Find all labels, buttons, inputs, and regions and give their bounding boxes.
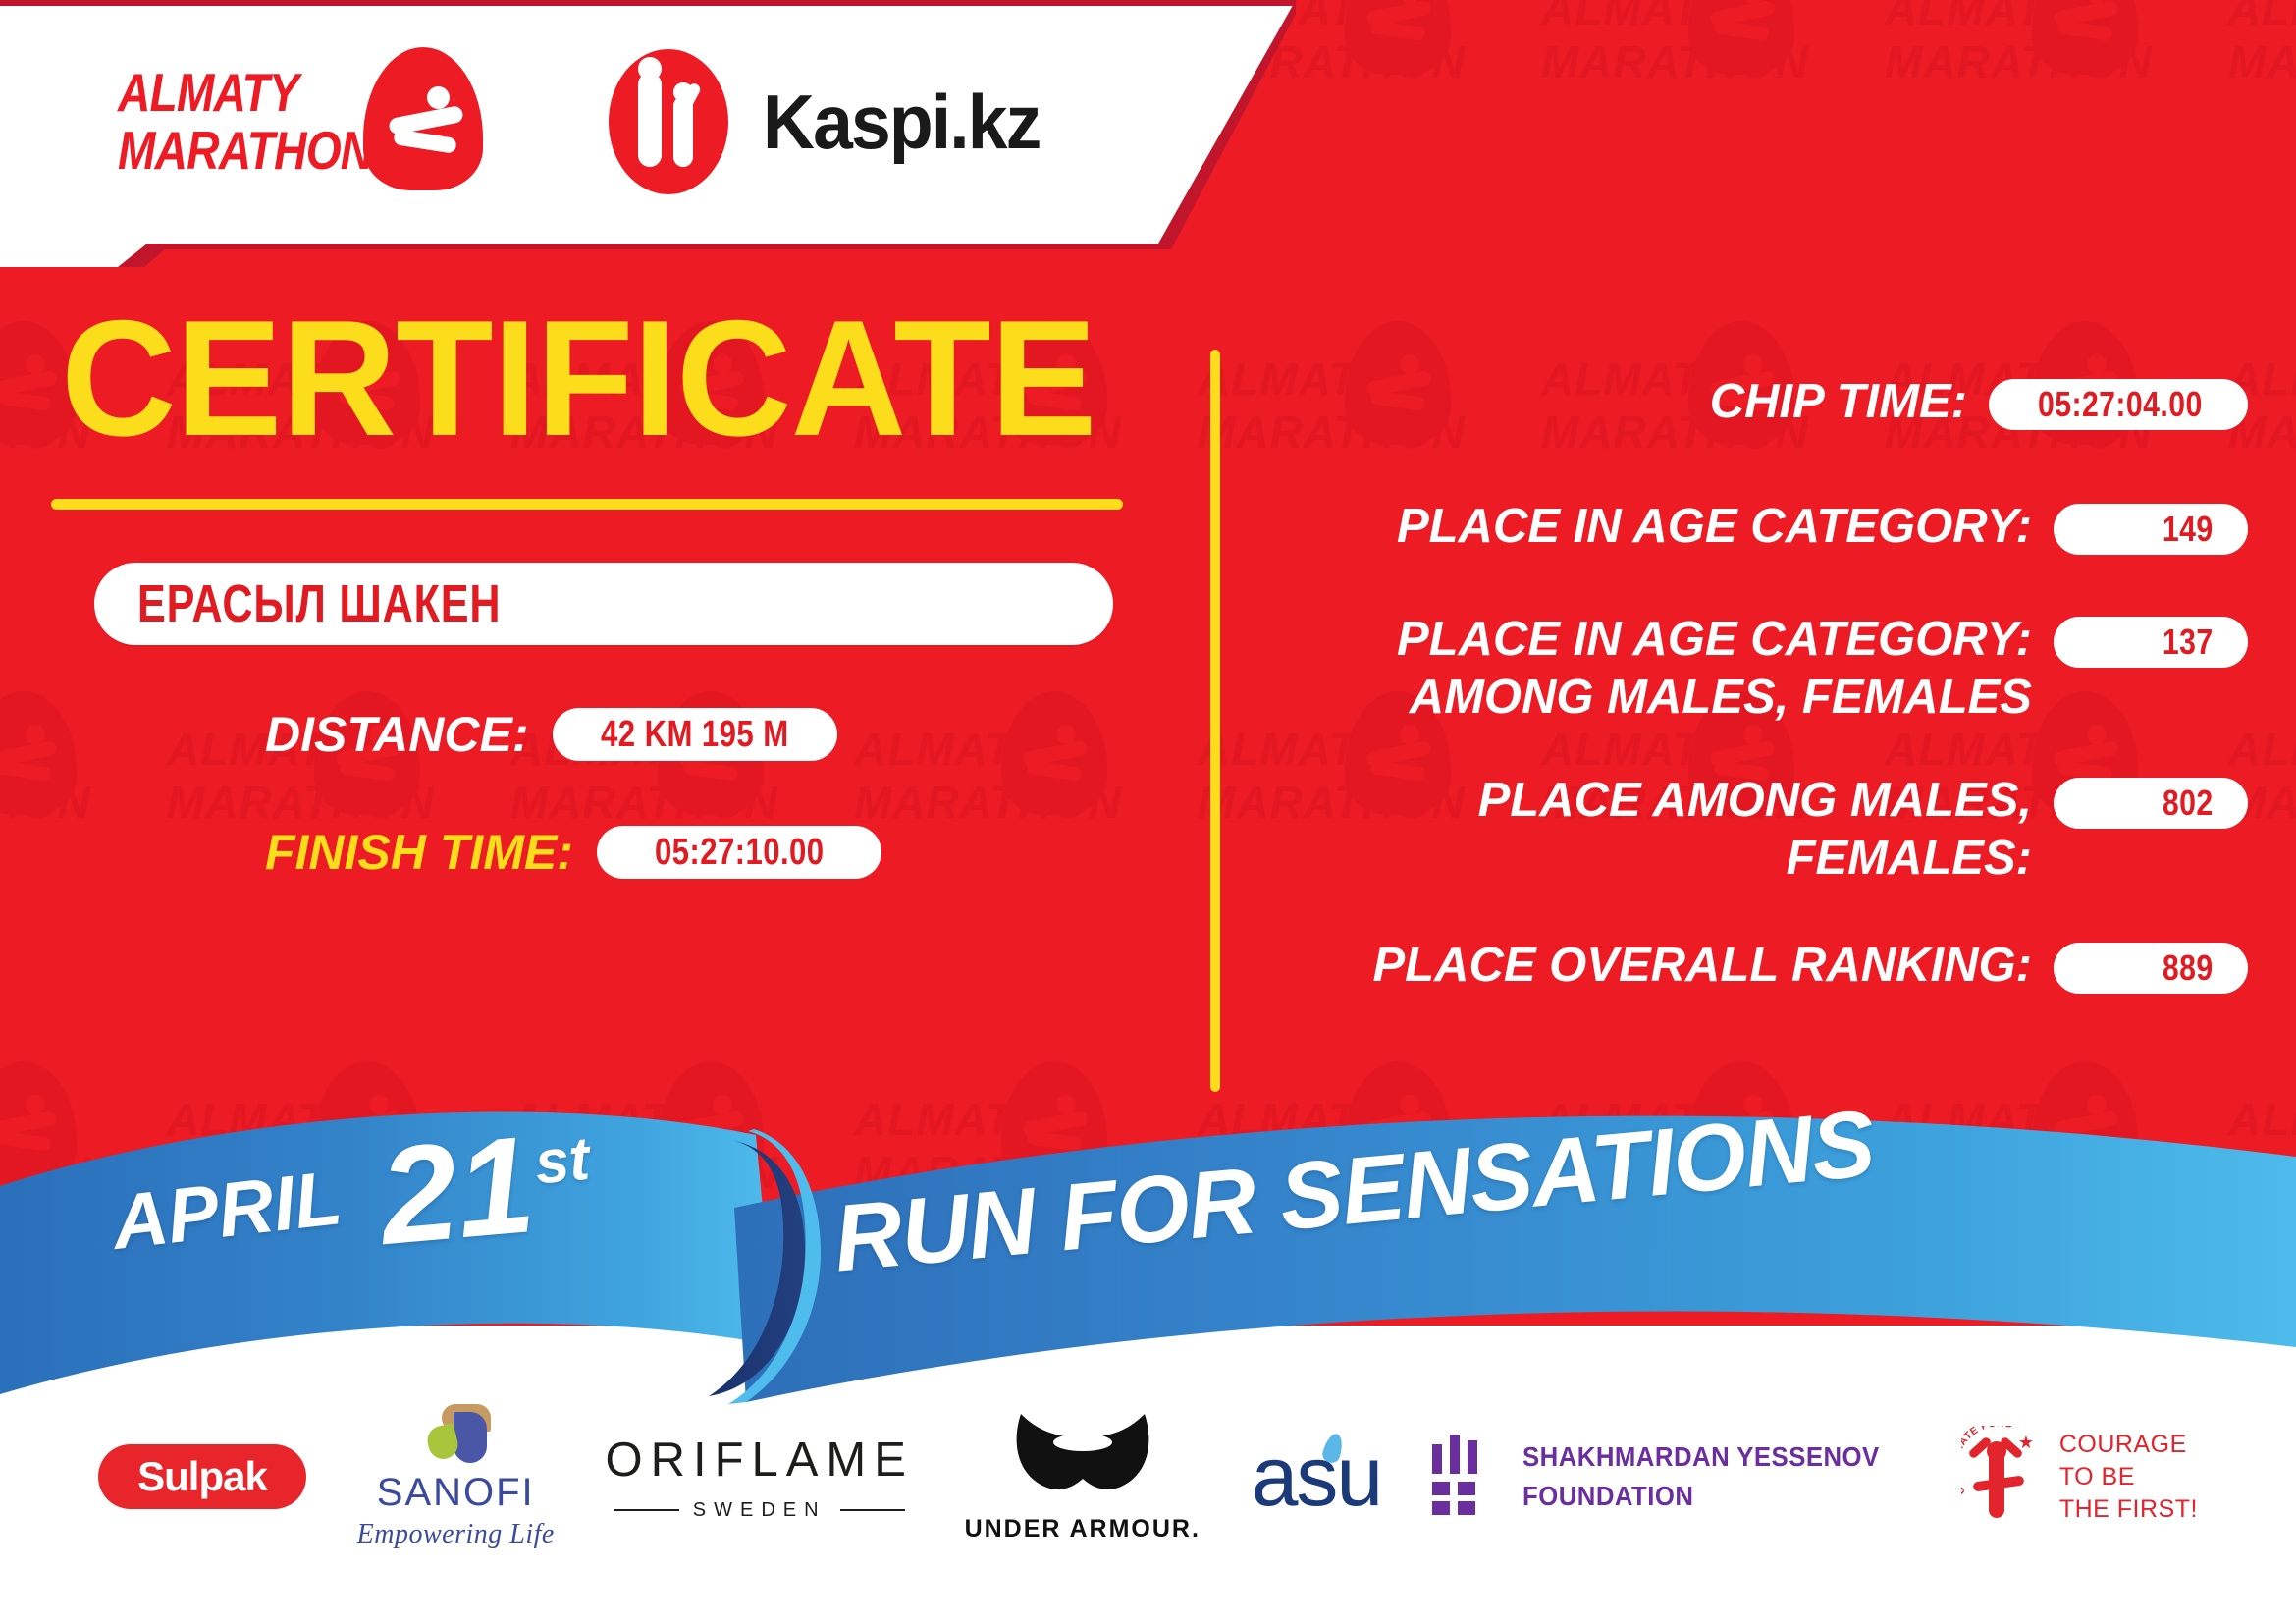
under-armour-label: UNDER ARMOUR.: [965, 1515, 1201, 1543]
kaspi-logo-text: Kaspi.kz: [763, 78, 1040, 167]
result-row-chip-time: CHIP TIME: 05:27:04.00: [1266, 373, 2248, 431]
result-row-place-overall: PLACE OVERALL RANKING: 889: [1266, 937, 2248, 995]
oriflame-label: ORIFLAME: [605, 1433, 913, 1488]
almaty-marathon-logo-line2: MARATHON: [118, 122, 372, 180]
sponsor-logo-under-armour: UNDER ARMOUR.: [965, 1410, 1201, 1543]
watermark-text: ALMATYMARATHON: [1541, 0, 1809, 88]
finish-time-label: FINISH TIME:: [265, 824, 573, 881]
place-age-category-value-pill: 149: [2054, 504, 2248, 555]
place-age-category-value: 149: [2163, 509, 2214, 550]
header-logos: ALMATY MARATHON Kaspi.kz: [0, 0, 1296, 244]
almaty-marathon-logo-line1: ALMATY: [118, 64, 372, 122]
sulpak-pill: Sulpak: [98, 1444, 306, 1509]
watermark-teardrop-icon: [2032, 0, 2138, 75]
detail-row-distance: DISTANCE: 42 KM 195 M: [265, 706, 1198, 763]
place-among-gender-value: 802: [2163, 783, 2214, 824]
place-age-category-gender-value: 137: [2163, 622, 2214, 663]
sponsor-logo-courage-fund: CORPORATE FUND ★ COURAGE TO BE THE FIRST…: [1961, 1426, 2198, 1528]
watermark-runner-icon: [1710, 0, 1777, 45]
almaty-marathon-logo-text: ALMATY MARATHON: [118, 64, 372, 180]
detail-row-finish-time: FINISH TIME: 05:27:10.00: [265, 824, 1198, 881]
place-overall-value-pill: 889: [2054, 943, 2248, 994]
courage-figure-icon: CORPORATE FUND ★: [1961, 1426, 2048, 1528]
place-age-category-gender-label-line2: AMONG MALES, FEMALES: [1266, 669, 2032, 727]
sulpak-label: Sulpak: [137, 1453, 267, 1500]
courage-label-line2: TO BE: [2059, 1461, 2198, 1493]
watermark-tile: ALMATYMARATHON: [1885, 0, 2179, 147]
participant-name-field: ЕРАСЫЛ ШАКЕН: [94, 563, 1113, 645]
watermark-teardrop-icon: [1688, 0, 1794, 75]
place-overall-label: PLACE OVERALL RANKING:: [1266, 937, 2054, 995]
watermark-teardrop-icon: [1345, 0, 1451, 75]
yessenov-label-line2: FOUNDATION: [1522, 1477, 1880, 1516]
chip-time-value: 05:27:04.00: [2038, 384, 2203, 425]
page-title: CERTIFICATE: [61, 295, 1163, 461]
almaty-marathon-logo: ALMATY MARATHON: [118, 41, 452, 203]
oriflame-tagline-row: SWEDEN: [614, 1499, 905, 1522]
chip-time-value-pill: 05:27:04.00: [1989, 379, 2248, 430]
sanofi-label: SANOFI: [377, 1471, 535, 1515]
sponsor-logo-yessenov: SHAKHMARDAN YESSENOV FOUNDATION: [1432, 1435, 1910, 1519]
title-underline: [51, 499, 1123, 510]
distance-label: DISTANCE:: [265, 706, 529, 763]
oriflame-rule-left: [614, 1509, 679, 1511]
under-armour-icon: [1009, 1410, 1156, 1505]
place-age-category-gender-label: PLACE IN AGE CATEGORY: AMONG MALES, FEMA…: [1266, 611, 2054, 727]
result-row-place-age-category: PLACE IN AGE CATEGORY: 149: [1266, 498, 2248, 556]
place-age-category-gender-label-line1: PLACE IN AGE CATEGORY:: [1266, 611, 2032, 669]
finish-time-value: 05:27:10.00: [655, 832, 825, 874]
sponsor-logo-oriflame: ORIFLAME SWEDEN: [605, 1433, 913, 1522]
kaspi-people-icon: [609, 49, 728, 194]
yessenov-label: SHAKHMARDAN YESSENOV FOUNDATION: [1522, 1437, 1880, 1516]
finish-time-value-pill: 05:27:10.00: [597, 826, 881, 879]
ribbon-day-label: 21st: [374, 1100, 598, 1276]
ribbon-day-number: 21: [374, 1107, 540, 1273]
watermark-runner-icon: [1366, 0, 1433, 45]
kaspi-logo: Kaspi.kz: [609, 49, 1048, 194]
runner-figure-icon: [389, 86, 465, 161]
chip-time-label: CHIP TIME:: [1266, 373, 1989, 431]
certificate-canvas: ALMATYMARATHONALMATYMARATHONALMATYMARATH…: [0, 0, 2296, 1624]
distance-value-pill: 42 KM 195 M: [553, 708, 837, 761]
place-among-gender-label: PLACE AMONG MALES, FEMALES:: [1266, 772, 2054, 888]
left-column: CERTIFICATE ЕРАСЫЛ ШАКЕН DISTANCE: 42 KM…: [0, 295, 1198, 881]
participant-name-value: ЕРАСЫЛ ШАКЕН: [137, 573, 501, 634]
sponsor-logo-sulpak: Sulpak: [98, 1444, 306, 1509]
watermark-text: ALMATYMARATHON: [2228, 0, 2296, 88]
asu-label-text: asu: [1252, 1430, 1382, 1524]
column-divider: [1210, 350, 1220, 1092]
result-row-place-age-category-gender: PLACE IN AGE CATEGORY: AMONG MALES, FEMA…: [1266, 611, 2248, 727]
distance-value: 42 KM 195 M: [601, 714, 789, 756]
sanofi-tagline: Empowering Life: [357, 1519, 555, 1550]
sponsor-bar: Sulpak SANOFI Empowering Life ORIFLAME S…: [0, 1329, 2296, 1624]
courage-label-line3: THE FIRST!: [2059, 1493, 2198, 1526]
courage-star-icon: ★: [2018, 1434, 2034, 1451]
place-age-category-label: PLACE IN AGE CATEGORY:: [1266, 498, 2054, 556]
sponsor-logo-sanofi: SANOFI Empowering Life: [357, 1404, 555, 1550]
results-column: CHIP TIME: 05:27:04.00 PLACE IN AGE CATE…: [1266, 373, 2248, 1036]
sponsor-logo-asu: asu: [1252, 1432, 1382, 1522]
watermark-runner-icon: [2054, 0, 2120, 45]
place-among-gender-label-line1: PLACE AMONG MALES,: [1266, 772, 2032, 830]
oriflame-tagline: SWEDEN: [693, 1499, 827, 1522]
place-overall-value: 889: [2163, 947, 2214, 989]
place-among-gender-value-pill: 802: [2054, 778, 2248, 829]
yessenov-bars-icon: [1432, 1435, 1497, 1519]
courage-label-line1: COURAGE: [2059, 1429, 2198, 1461]
result-row-place-among-gender: PLACE AMONG MALES, FEMALES: 802: [1266, 772, 2248, 888]
asu-label: asu: [1252, 1432, 1382, 1522]
oriflame-rule-right: [840, 1509, 905, 1511]
yessenov-label-line1: SHAKHMARDAN YESSENOV: [1522, 1437, 1880, 1477]
watermark-tile: ALMATYMARATHON: [2228, 0, 2296, 147]
watermark-tile: ALMATYMARATHON: [1541, 0, 1836, 147]
ribbon-day-suffix: st: [532, 1125, 592, 1198]
sanofi-mark-icon: [416, 1404, 495, 1465]
watermark-text: ALMATYMARATHON: [1885, 0, 2153, 88]
place-age-category-gender-value-pill: 137: [2054, 617, 2248, 668]
courage-label: COURAGE TO BE THE FIRST!: [2059, 1429, 2198, 1526]
place-among-gender-label-line2: FEMALES:: [1266, 830, 2032, 888]
